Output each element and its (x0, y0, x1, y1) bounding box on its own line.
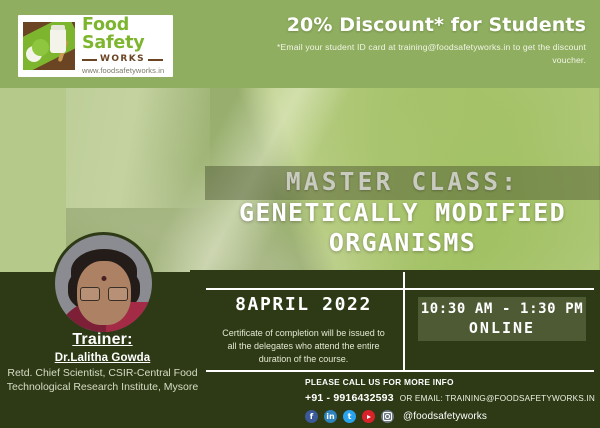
facebook-icon[interactable]: f (305, 410, 318, 423)
trainer-label: Trainer: (0, 331, 205, 349)
logo-works-row: WORKS (82, 55, 173, 64)
trainer-info: Trainer: Dr.Lalitha Gowda Retd. Chief Sc… (0, 331, 205, 395)
event-time-block: 10:30 AM - 1:30 PM ONLINE (418, 297, 586, 341)
trainer-description: Retd. Chief Scientist, CSIR-Central Food… (0, 367, 205, 395)
twitter-icon[interactable]: t (343, 410, 356, 423)
poster-root: Food Safety WORKS www.foodsafetyworks.in… (0, 0, 600, 428)
contact-heading: PLEASE CALL US FOR MORE INFO (305, 377, 595, 387)
promo-block: 20% Discount* for Students *Email your s… (256, 14, 586, 68)
brand-logo[interactable]: Food Safety WORKS www.foodsafetyworks.in (18, 15, 173, 77)
event-mode: ONLINE (469, 319, 535, 337)
instagram-icon[interactable] (381, 410, 394, 423)
event-date: 8APRIL 2022 (206, 294, 401, 315)
trainer-name: Dr.Lalitha Gowda (0, 352, 205, 364)
divider-vertical (403, 272, 405, 370)
promo-title: 20% Discount* for Students (256, 14, 586, 36)
trainer-portrait (52, 232, 155, 335)
social-links: f in t @foodsafetyworks (305, 410, 595, 423)
contact-footer: PLEASE CALL US FOR MORE INFO +91 - 99164… (305, 377, 595, 423)
divider-top (206, 288, 594, 290)
certificate-note: Certificate of completion will be issued… (206, 327, 401, 365)
youtube-icon[interactable] (362, 410, 375, 423)
logo-works-text: WORKS (100, 55, 145, 64)
event-time: 10:30 AM - 1:30 PM (421, 301, 584, 317)
promo-subtitle: *Email your student ID card at training@… (256, 41, 586, 68)
contact-email[interactable]: OR EMAIL: TRAINING@FOODSAFETYWORKS.IN (400, 394, 595, 403)
contact-phone[interactable]: +91 - 9916432593 (305, 392, 394, 404)
event-date-block: 8APRIL 2022 Certificate of completion wi… (206, 294, 401, 365)
logo-url: www.foodsafetyworks.in (82, 67, 173, 75)
glasses-icon (80, 287, 128, 299)
title-line-2: GENETICALLY MODIFIED (205, 199, 600, 227)
page-title: MASTER CLASS: GENETICALLY MODIFIED ORGAN… (205, 168, 600, 257)
contact-line: +91 - 9916432593 OR EMAIL: TRAINING@FOOD… (305, 392, 595, 404)
logo-title: Food Safety (82, 17, 173, 52)
social-handle[interactable]: @foodsafetyworks (403, 411, 487, 422)
title-line-1: MASTER CLASS: (205, 168, 600, 197)
background-left-block (0, 88, 66, 273)
title-line-3: ORGANISMS (205, 229, 600, 257)
jar-and-apple-icon (23, 22, 75, 70)
divider-bottom (206, 370, 594, 372)
linkedin-icon[interactable]: in (324, 410, 337, 423)
